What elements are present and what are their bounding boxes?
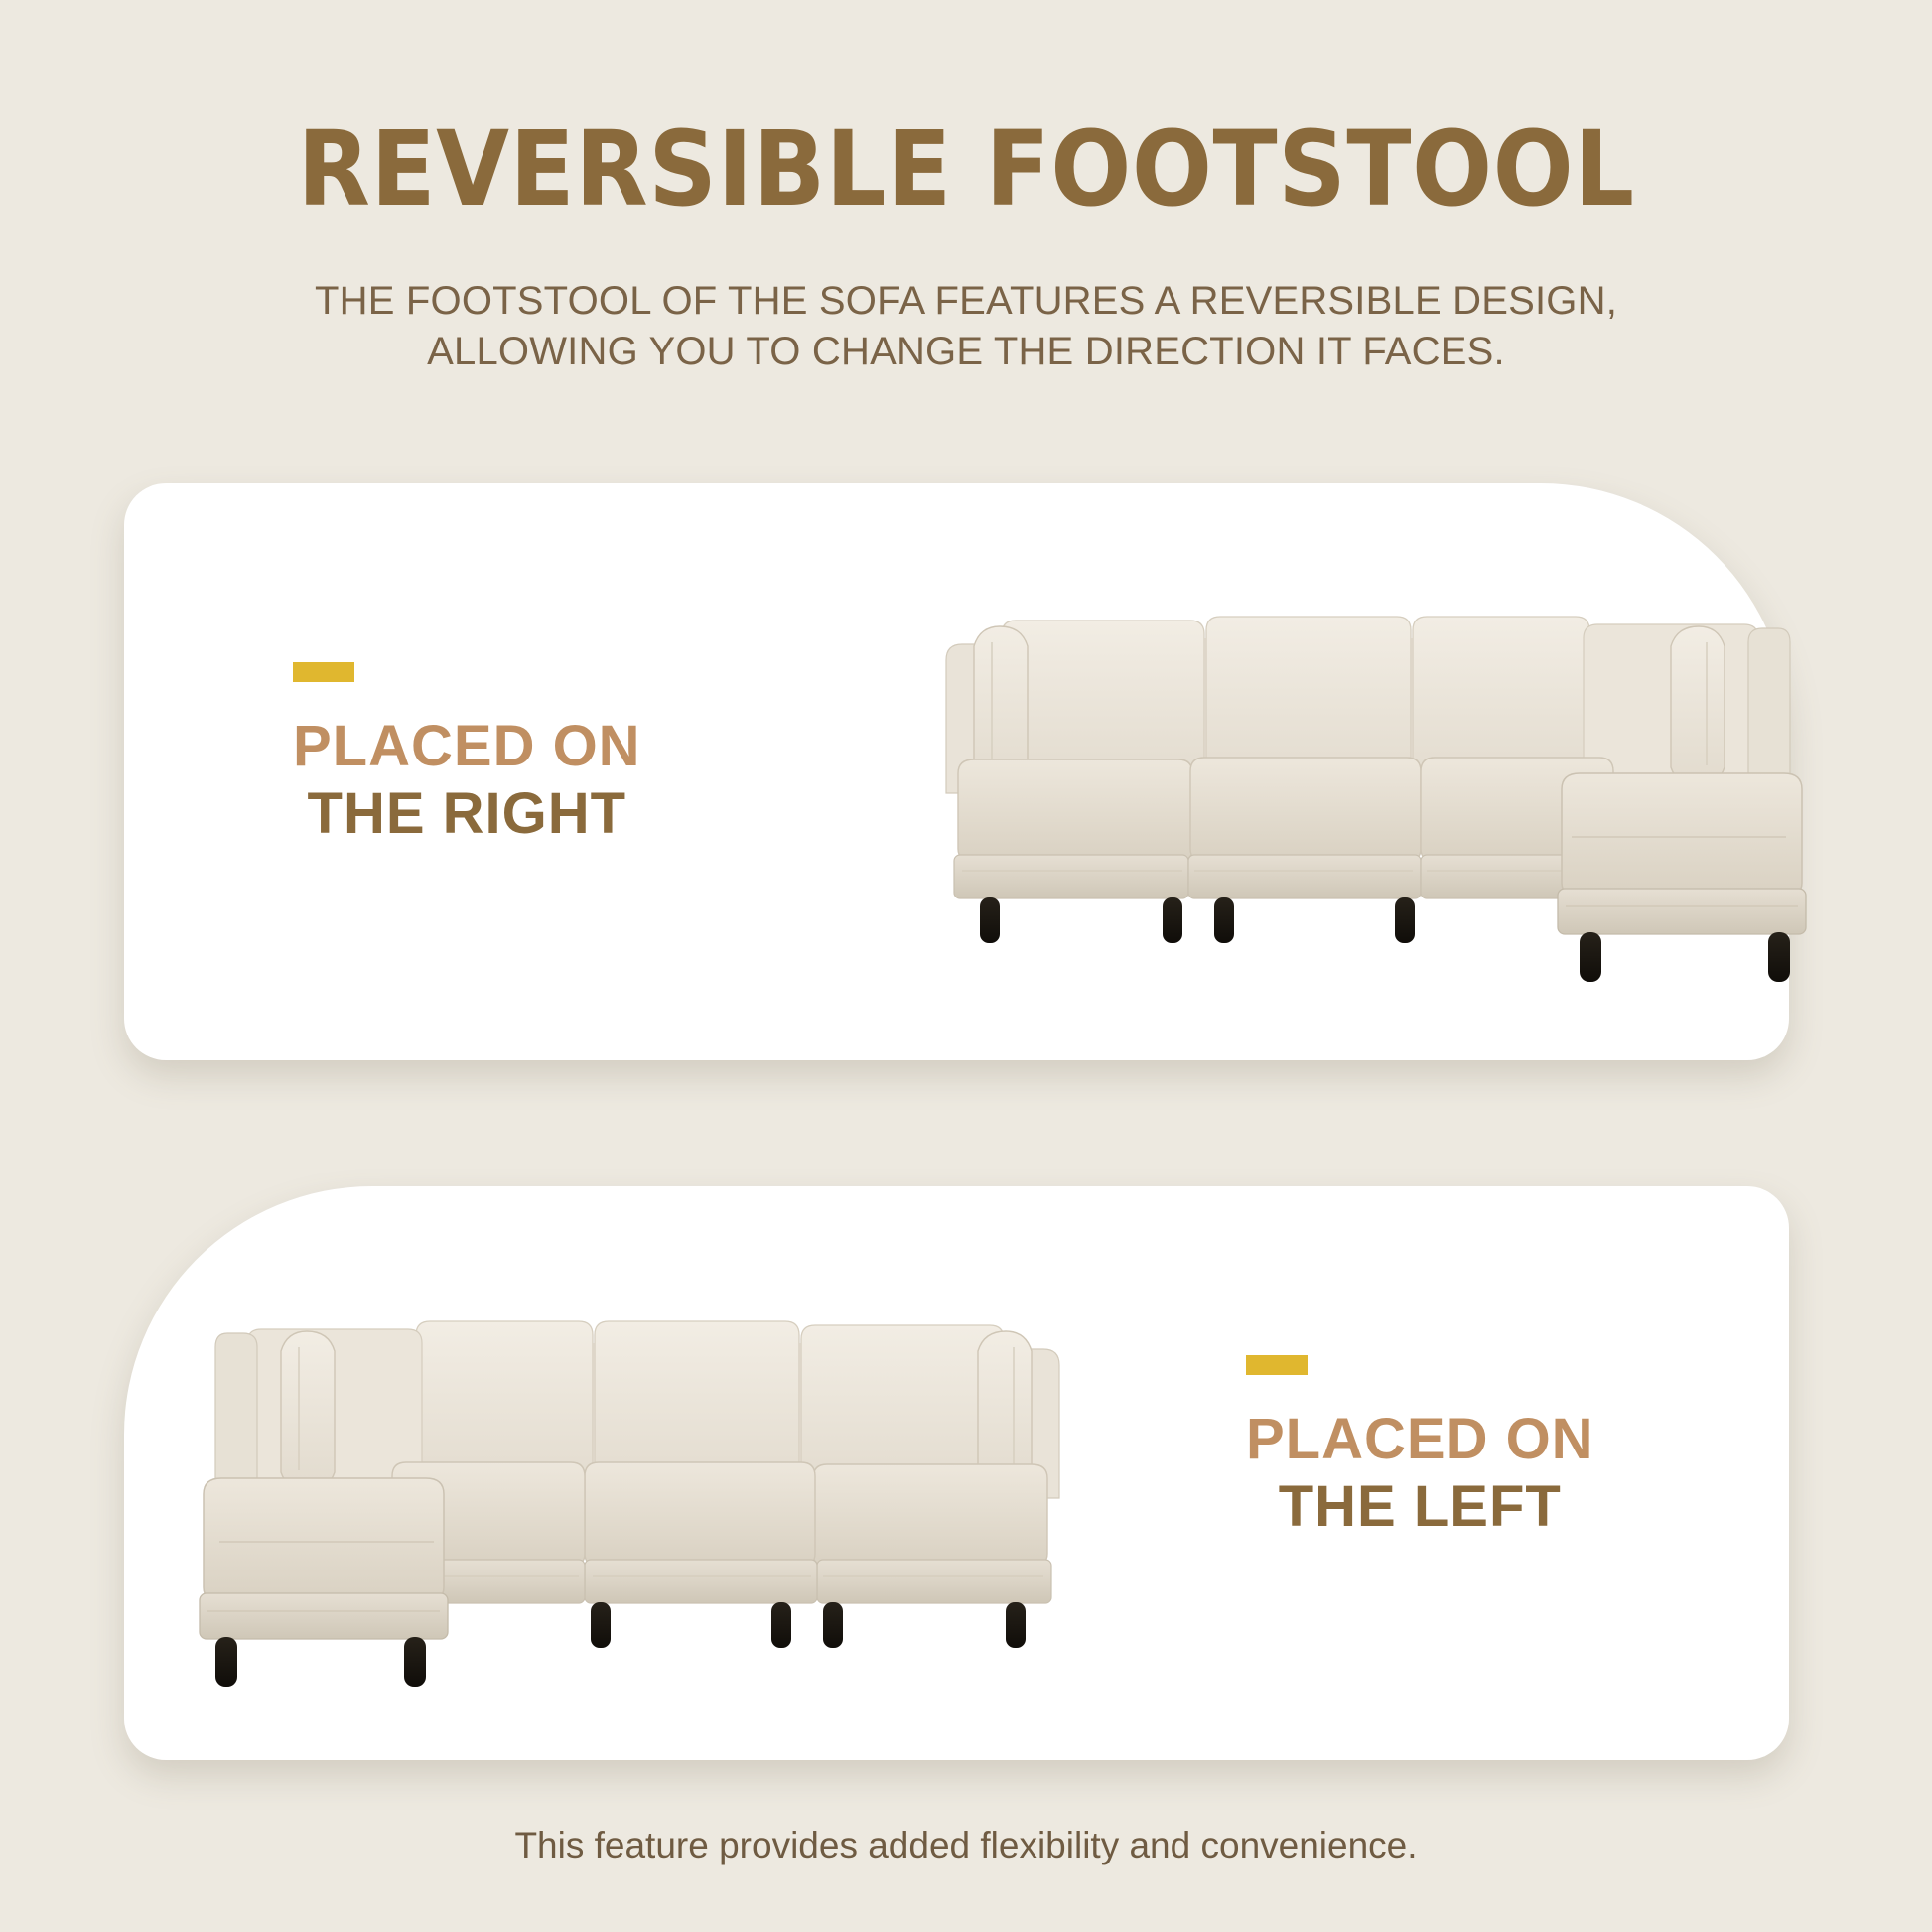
footer-caption: This feature provides added flexibility … [0,1825,1932,1866]
subtitle-line-2: ALLOWING YOU TO CHANGE THE DIRECTION IT … [0,327,1932,377]
label-right-line-2: THE RIGHT [293,782,641,847]
label-left-line-1: PLACED ON [1246,1409,1594,1471]
card-placed-on-the-left[interactable]: PLACED ON THE LEFT [124,1186,1789,1760]
label-block-left: PLACED ON THE LEFT [1246,1355,1594,1540]
label-right-line-1: PLACED ON [293,716,641,778]
label-left-line-2: THE LEFT [1246,1475,1594,1540]
accent-bar-icon [1246,1355,1308,1375]
card-placed-on-the-right[interactable]: PLACED ON THE RIGHT [124,483,1789,1060]
label-block-right: PLACED ON THE RIGHT [293,662,641,847]
page-title: REVERSIBLE FOOTSTOOL [0,117,1932,220]
accent-bar-icon [293,662,354,682]
sofa-image-footstool-left [184,1248,1077,1695]
page-subtitle: THE FOOTSTOOL OF THE SOFA FEATURES A REV… [0,276,1932,377]
sofa-image-footstool-right [928,543,1822,990]
subtitle-line-1: THE FOOTSTOOL OF THE SOFA FEATURES A REV… [0,276,1932,327]
